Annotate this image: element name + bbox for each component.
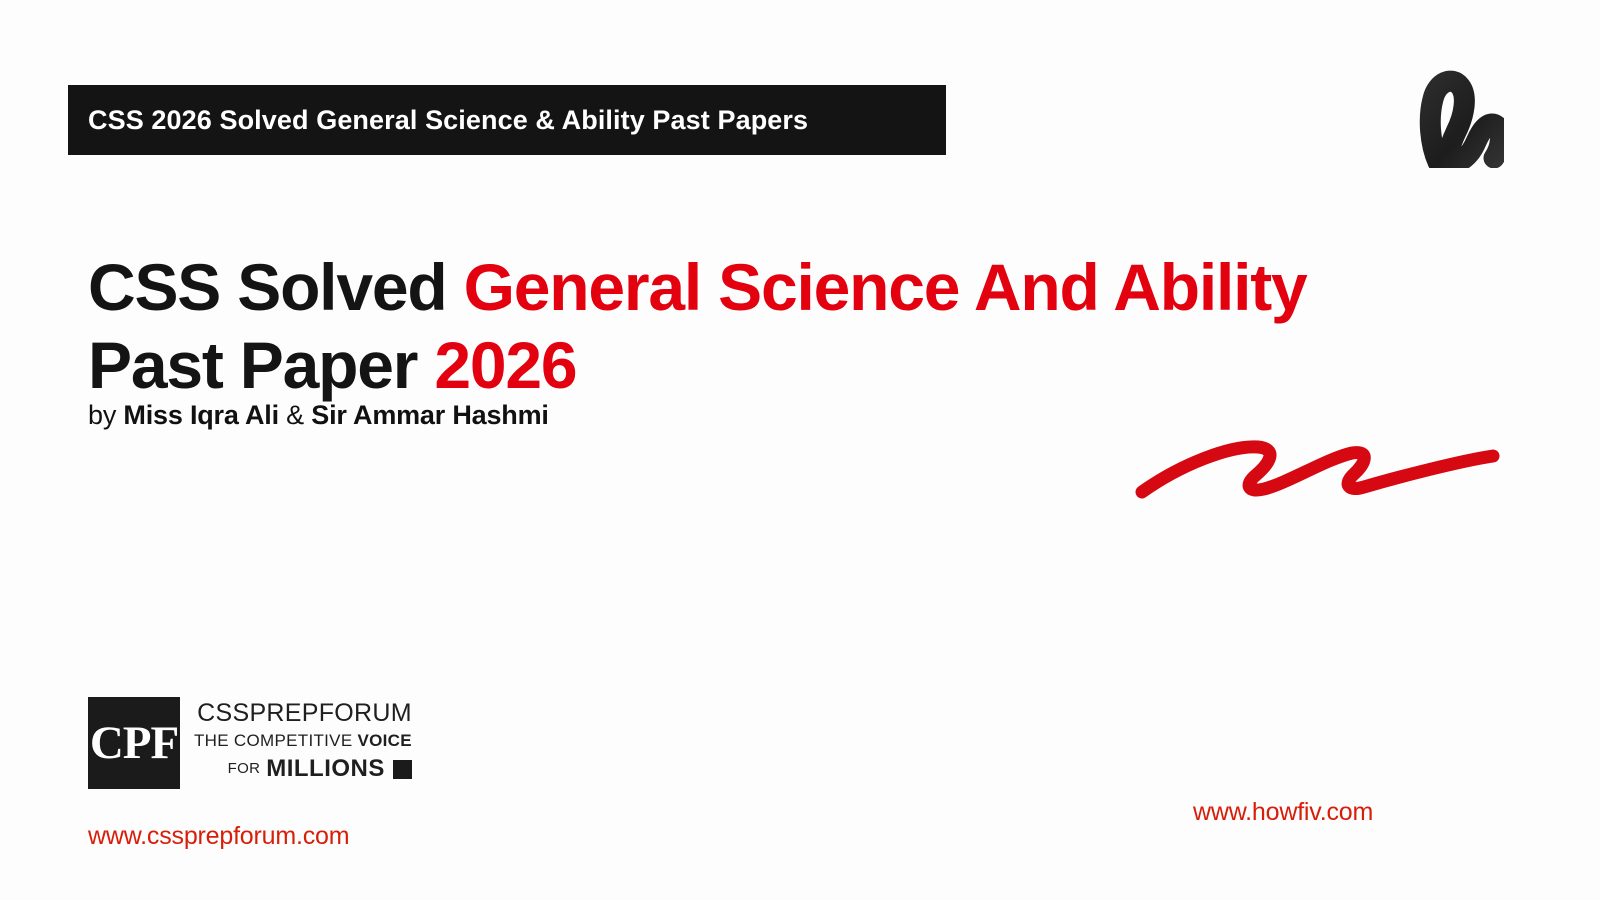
logo-tagline-emphasis: VOICE: [357, 731, 411, 750]
howfiv-url[interactable]: www.howfiv.com: [1193, 798, 1373, 827]
cpf-monogram-tile: CPF: [88, 697, 180, 789]
cpf-monogram-text: CPF: [90, 720, 178, 767]
cssprepforum-url[interactable]: www.cssprepforum.com: [88, 822, 349, 851]
byline-conjunction: &: [279, 400, 311, 430]
logo-tagline2-prefix: FOR: [228, 760, 261, 778]
eyebrow-label: CSS 2026 Solved General Science & Abilit…: [88, 105, 808, 136]
byline-prefix: by: [88, 400, 123, 430]
logo-square-bullet-icon: [393, 760, 412, 779]
red-scribble-icon: [1130, 425, 1505, 510]
headline-part-3: Past Paper: [88, 328, 434, 402]
eyebrow-banner: CSS 2026 Solved General Science & Abilit…: [68, 85, 946, 155]
logo-tagline-line-2: FOR MILLIONS: [228, 755, 412, 784]
slide-canvas: CSS 2026 Solved General Science & Abilit…: [0, 0, 1600, 900]
logo-brand-name: CSSPREPFORUM: [197, 699, 412, 727]
logo-wordmark: CSSPREPFORUM THE COMPETITIVE VOICE FOR M…: [194, 697, 412, 784]
byline-author-primary: Miss Iqra Ali: [123, 400, 278, 430]
byline: by Miss Iqra Ali & Sir Ammar Hashmi: [88, 400, 549, 431]
headline-part-2-highlight: General Science And Ability: [464, 250, 1307, 324]
logo-tagline-prefix: THE COMPETITIVE: [194, 731, 357, 750]
cssprepforum-logo: CPF CSSPREPFORUM THE COMPETITIVE VOICE F…: [88, 697, 412, 789]
byline-author-secondary: Sir Ammar Hashmi: [311, 400, 548, 430]
headline-part-4-year: 2026: [434, 328, 576, 402]
headline-part-1: CSS Solved: [88, 250, 464, 324]
howfiv-h-logo-icon: [1408, 66, 1504, 168]
page-title: CSS Solved General Science And Ability P…: [88, 249, 1408, 405]
logo-tagline-line-1: THE COMPETITIVE VOICE: [194, 730, 412, 752]
logo-tagline2-emphasis: MILLIONS: [266, 755, 385, 784]
